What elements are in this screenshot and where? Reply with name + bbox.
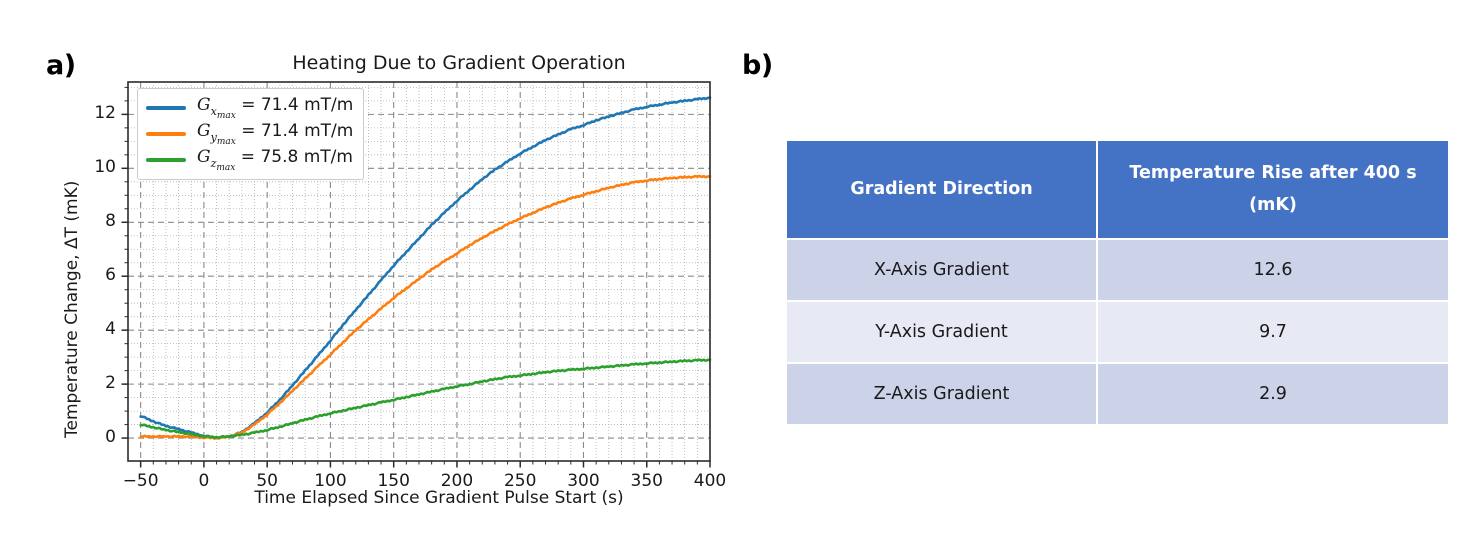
cell-gradient-direction: Y-Axis Gradient	[787, 302, 1096, 362]
x-tick-label: 100	[300, 471, 360, 491]
y-tick-label: 12	[82, 103, 116, 123]
legend-swatch-x	[146, 106, 186, 110]
x-axis-label: Time Elapsed Since Gradient Pulse Start …	[128, 488, 750, 508]
legend-label-y: Gymax = 71.4 mT/m	[197, 121, 353, 147]
chart-title: Heating Due to Gradient Operation	[168, 52, 750, 74]
legend-swatch-z	[146, 158, 186, 162]
table-row: Z-Axis Gradient2.9	[787, 364, 1448, 424]
table-body: X-Axis Gradient12.6Y-Axis Gradient9.7Z-A…	[787, 240, 1448, 424]
chart-figure: Heating Due to Gradient Operation Temper…	[40, 38, 740, 528]
y-tick-label: 10	[82, 157, 116, 177]
legend-label-x: Gxmax = 71.4 mT/m	[197, 95, 353, 121]
x-tick-label: 50	[237, 471, 297, 491]
chart-legend: Gxmax = 71.4 mT/m Gymax = 71.4 mT/m Gzma…	[137, 88, 364, 180]
y-tick-label: 8	[82, 211, 116, 231]
cell-temperature-rise: 12.6	[1098, 240, 1448, 300]
x-tick-label: 250	[490, 471, 550, 491]
table-header-row: Gradient Direction Temperature Rise afte…	[787, 141, 1448, 238]
legend-swatch-y	[146, 132, 186, 136]
y-tick-label: 6	[82, 265, 116, 285]
table-header-temperature-rise: Temperature Rise after 400 s (mK)	[1098, 141, 1448, 238]
cell-gradient-direction: X-Axis Gradient	[787, 240, 1096, 300]
cell-temperature-rise: 2.9	[1098, 364, 1448, 424]
x-tick-label: 400	[680, 471, 740, 491]
x-tick-label: 300	[553, 471, 613, 491]
y-tick-label: 0	[82, 427, 116, 447]
x-tick-label: −50	[111, 471, 171, 491]
y-axis-label: Temperature Change, ΔT (mK)	[62, 181, 82, 438]
table-row: Y-Axis Gradient9.7	[787, 302, 1448, 362]
x-tick-label: 0	[174, 471, 234, 491]
x-tick-label: 150	[364, 471, 424, 491]
y-tick-label: 2	[82, 373, 116, 393]
cell-gradient-direction: Z-Axis Gradient	[787, 364, 1096, 424]
table-row: X-Axis Gradient12.6	[787, 240, 1448, 300]
y-tick-label: 4	[82, 319, 116, 339]
cell-temperature-rise: 9.7	[1098, 302, 1448, 362]
legend-item: Gxmax = 71.4 mT/m	[146, 95, 353, 121]
x-tick-label: 200	[427, 471, 487, 491]
x-tick-label: 350	[617, 471, 677, 491]
table-header-temperature-rise-line2: (mK)	[1249, 195, 1297, 215]
results-table: Gradient Direction Temperature Rise afte…	[785, 139, 1450, 426]
table-header-temperature-rise-line1: Temperature Rise after 400 s	[1129, 163, 1416, 183]
legend-item: Gzmax = 75.8 mT/m	[146, 147, 353, 173]
table-header-gradient-direction: Gradient Direction	[787, 141, 1096, 238]
legend-label-z: Gzmax = 75.8 mT/m	[197, 147, 353, 173]
legend-item: Gymax = 71.4 mT/m	[146, 121, 353, 147]
